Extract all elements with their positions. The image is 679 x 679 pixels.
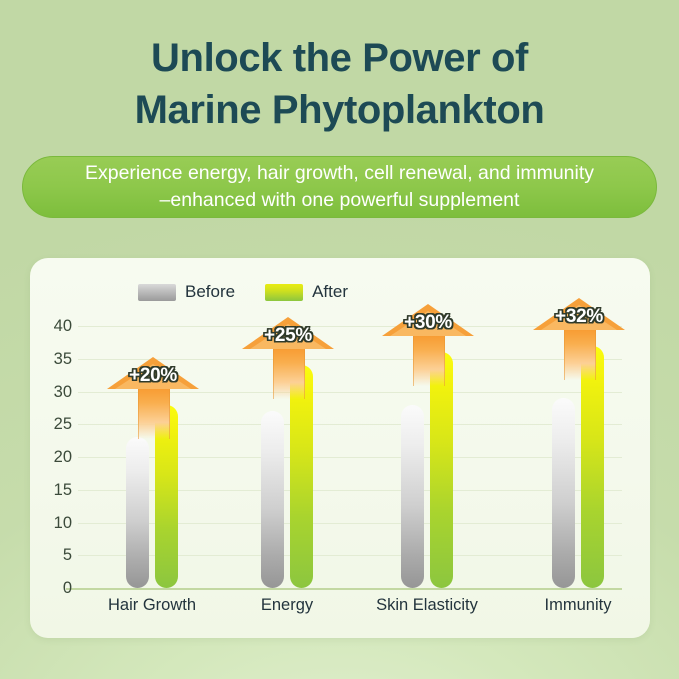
increase-percent-label: +30%	[382, 312, 474, 334]
increase-percent-label: +25%	[242, 325, 334, 347]
bar-chart: Before After 0510152025303540+20%Hair Gr…	[30, 258, 650, 638]
legend-item-after: After	[265, 282, 348, 302]
chart-card: Before After 0510152025303540+20%Hair Gr…	[30, 258, 650, 638]
y-axis-tick-label: 20	[38, 449, 72, 465]
y-axis-tick-label: 30	[38, 384, 72, 400]
bar-before-hair-growth	[126, 437, 149, 588]
bar-before-energy	[261, 411, 284, 588]
arrow-shaft-icon	[413, 334, 445, 386]
y-axis-tick-label: 35	[38, 351, 72, 367]
subtitle-line-2: –enhanced with one powerful supplement	[85, 187, 594, 214]
bar-before-skin-elasticity	[401, 405, 424, 588]
legend-label-before: Before	[185, 282, 235, 302]
arrow-shaft-icon	[564, 328, 596, 380]
legend-swatch-after-icon	[265, 284, 303, 301]
y-axis-tick-label: 0	[38, 580, 72, 596]
y-axis-tick-label: 5	[38, 547, 72, 563]
title-line-2: Marine Phytoplankton	[0, 84, 679, 136]
y-axis-tick-label: 10	[38, 515, 72, 531]
infographic-root: Unlock the Power of Marine Phytoplankton…	[0, 0, 679, 679]
legend-swatch-before-icon	[138, 284, 176, 301]
y-axis-tick-label: 40	[38, 318, 72, 334]
arrow-shaft-icon	[138, 387, 170, 439]
arrow-shaft-icon	[273, 347, 305, 399]
subtitle-line-1: Experience energy, hair growth, cell ren…	[85, 160, 594, 187]
increase-percent-label: +20%	[107, 365, 199, 387]
axis-baseline	[66, 588, 622, 590]
page-title: Unlock the Power of Marine Phytoplankton	[0, 32, 679, 136]
y-axis-tick-label: 15	[38, 482, 72, 498]
legend-item-before: Before	[138, 282, 235, 302]
subtitle-banner: Experience energy, hair growth, cell ren…	[22, 156, 657, 218]
chart-legend: Before After	[138, 282, 348, 302]
legend-label-after: After	[312, 282, 348, 302]
bar-after-immunity	[581, 346, 604, 588]
bar-after-skin-elasticity	[430, 352, 453, 588]
y-axis-tick-label: 25	[38, 416, 72, 432]
bar-before-immunity	[552, 398, 575, 588]
increase-percent-label: +32%	[533, 306, 625, 328]
x-axis-label-immunity: Immunity	[488, 596, 668, 615]
title-line-1: Unlock the Power of	[0, 32, 679, 84]
subtitle-text: Experience energy, hair growth, cell ren…	[85, 160, 594, 214]
